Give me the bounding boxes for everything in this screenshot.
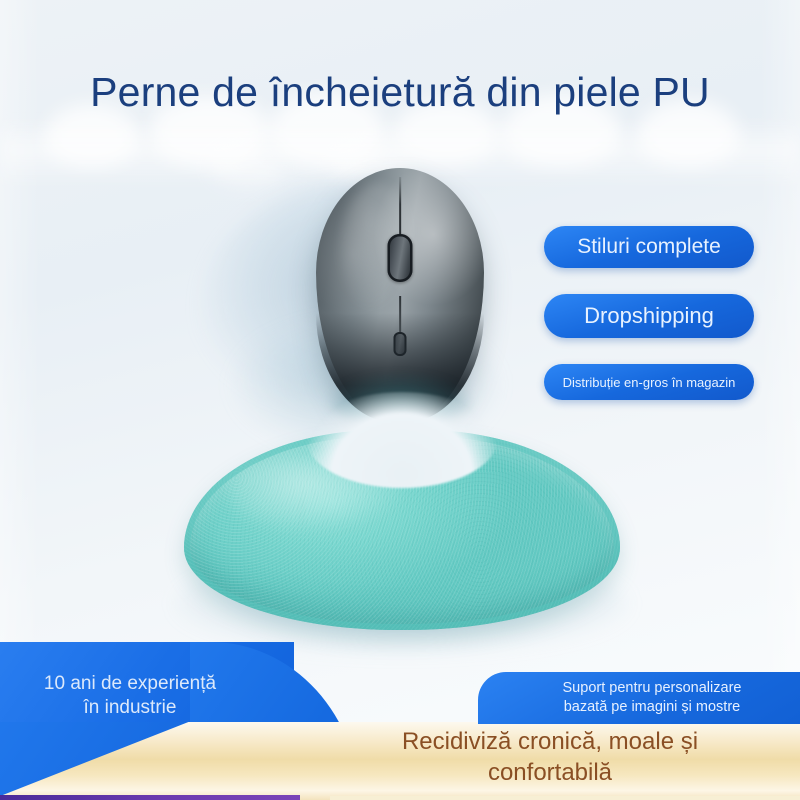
customization-line-1: Suport pentru personalizare <box>563 679 742 698</box>
customization-support-panel[interactable]: Suport pentru personalizare bazată pe im… <box>478 672 800 724</box>
feature-pill-wholesale[interactable]: Distribuție en-gros în magazin <box>544 364 754 400</box>
tagline-line-1: Recidiviză cronică, moale și <box>300 726 800 757</box>
product-advertisement-banner: Perne de încheietură din piele PU Stilur… <box>0 0 800 800</box>
feature-pill-label: Distribuție en-gros în magazin <box>563 375 736 390</box>
mouse-scroll-wheel <box>388 234 413 282</box>
bottom-accent-line-right <box>330 796 800 800</box>
feature-pill-dropshipping[interactable]: Dropshipping <box>544 294 754 338</box>
experience-text: 10 ani de experiență în industrie <box>0 672 260 720</box>
page-title: Perne de încheietură din piele PU <box>0 69 800 116</box>
bottom-accent-line-left <box>0 795 300 800</box>
experience-line-1: 10 ani de experiență <box>0 672 260 696</box>
customization-support-text: Suport pentru personalizare bazată pe im… <box>545 679 742 717</box>
tagline-text: Recidiviză cronică, moale și confortabil… <box>300 726 800 788</box>
wrist-rest-product-image <box>184 430 620 630</box>
customization-line-2: bazată pe imagini și mostre <box>563 698 742 717</box>
feature-pill-label: Dropshipping <box>584 303 714 329</box>
feature-pill-label: Stiluri complete <box>577 235 721 259</box>
feature-pill-styles[interactable]: Stiluri complete <box>544 226 754 268</box>
tagline-line-2: confortabilă <box>300 757 800 788</box>
wireless-mouse-product-image <box>316 168 484 423</box>
experience-line-2: în industrie <box>0 696 260 720</box>
wrist-rest-notch <box>307 392 497 488</box>
